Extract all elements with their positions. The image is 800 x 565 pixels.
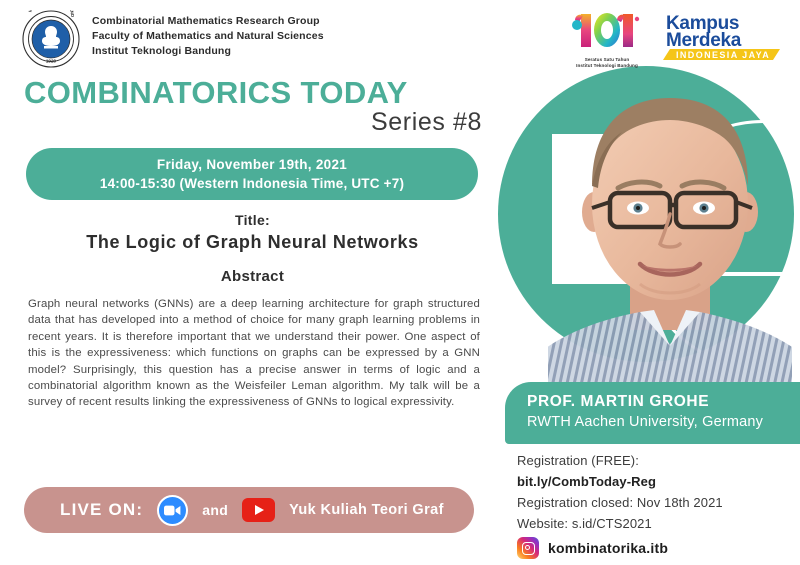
registration-closed: Registration closed: Nov 18th 2021 — [517, 492, 800, 513]
svg-text:Merdeka: Merdeka — [666, 30, 742, 51]
zoom-video-icon[interactable] — [157, 495, 188, 526]
live-on-label: LIVE ON: — [60, 500, 143, 520]
talk-title: The Logic of Graph Neural Networks — [0, 232, 505, 253]
itb-101-anniversary-logo: Seratus Satu Tahun Institut Teknologi Ba… — [551, 8, 663, 66]
date-time-banner: Friday, November 19th, 2021 14:00-15:30 … — [26, 148, 478, 200]
org-line-1: Combinatorial Mathematics Research Group — [92, 14, 324, 29]
youtube-icon[interactable] — [242, 498, 275, 522]
speaker-portrait — [548, 62, 792, 392]
organisation-lines: Combinatorial Mathematics Research Group… — [92, 10, 324, 59]
event-date: Friday, November 19th, 2021 — [157, 155, 347, 174]
youtube-play-triangle — [255, 505, 264, 515]
org-line-3: Institut Teknologi Bandung — [92, 44, 324, 59]
svg-text:1920: 1920 — [46, 59, 57, 64]
event-time: 14:00-15:30 (Western Indonesia Time, UTC… — [100, 174, 404, 193]
instagram-glyph — [522, 542, 535, 555]
svg-text:INDONESIA JAYA: INDONESIA JAYA — [676, 50, 770, 60]
instagram-handle[interactable]: kombinatorika.itb — [548, 540, 668, 556]
speaker-photo-stage — [490, 62, 800, 392]
speaker-name: PROF. MARTIN GROHE — [527, 391, 800, 412]
youtube-channel-name: Yuk Kuliah Teori Graf — [289, 502, 444, 518]
left-content-column: 1920 INSTITUT TEKNOLOGI BANDUNG Combinat… — [0, 0, 505, 565]
logo-101-caption-2: Institut Teknologi Bandung — [551, 63, 663, 69]
poster-series-label: Series #8 — [24, 108, 482, 137]
instagram-icon[interactable] — [517, 537, 539, 559]
live-on-banner: LIVE ON: and Yuk Kuliah Teori Graf — [24, 487, 474, 533]
title-label: Title: — [0, 212, 505, 228]
speaker-affiliation: RWTH Aachen University, Germany — [527, 412, 800, 433]
abstract-text: Graph neural networks (GNNs) are a deep … — [28, 296, 480, 411]
poster-main-title: COMBINATORICS TODAY — [24, 76, 408, 110]
registration-label: Registration (FREE): — [517, 450, 800, 471]
organisation-header: 1920 INSTITUT TEKNOLOGI BANDUNG Combinat… — [22, 10, 482, 68]
live-conjunction: and — [202, 502, 228, 518]
org-line-2: Faculty of Mathematics and Natural Scien… — [92, 29, 324, 44]
speaker-name-band: PROF. MARTIN GROHE RWTH Aachen Universit… — [505, 382, 800, 444]
itb-logo-icon: 1920 INSTITUT TEKNOLOGI BANDUNG — [22, 10, 80, 68]
abstract-label: Abstract — [0, 268, 505, 285]
kampus-merdeka-logo: Kampus Merdeka INDONESIA JAYA — [660, 10, 796, 62]
registration-block: Registration (FREE): bit.ly/CombToday-Re… — [517, 450, 800, 559]
registration-link[interactable]: bit.ly/CombToday-Reg — [517, 471, 800, 492]
event-poster: 1920 INSTITUT TEKNOLOGI BANDUNG Combinat… — [0, 0, 800, 565]
instagram-row[interactable]: kombinatorika.itb — [517, 537, 800, 559]
website-line[interactable]: Website: s.id/CTS2021 — [517, 513, 800, 534]
